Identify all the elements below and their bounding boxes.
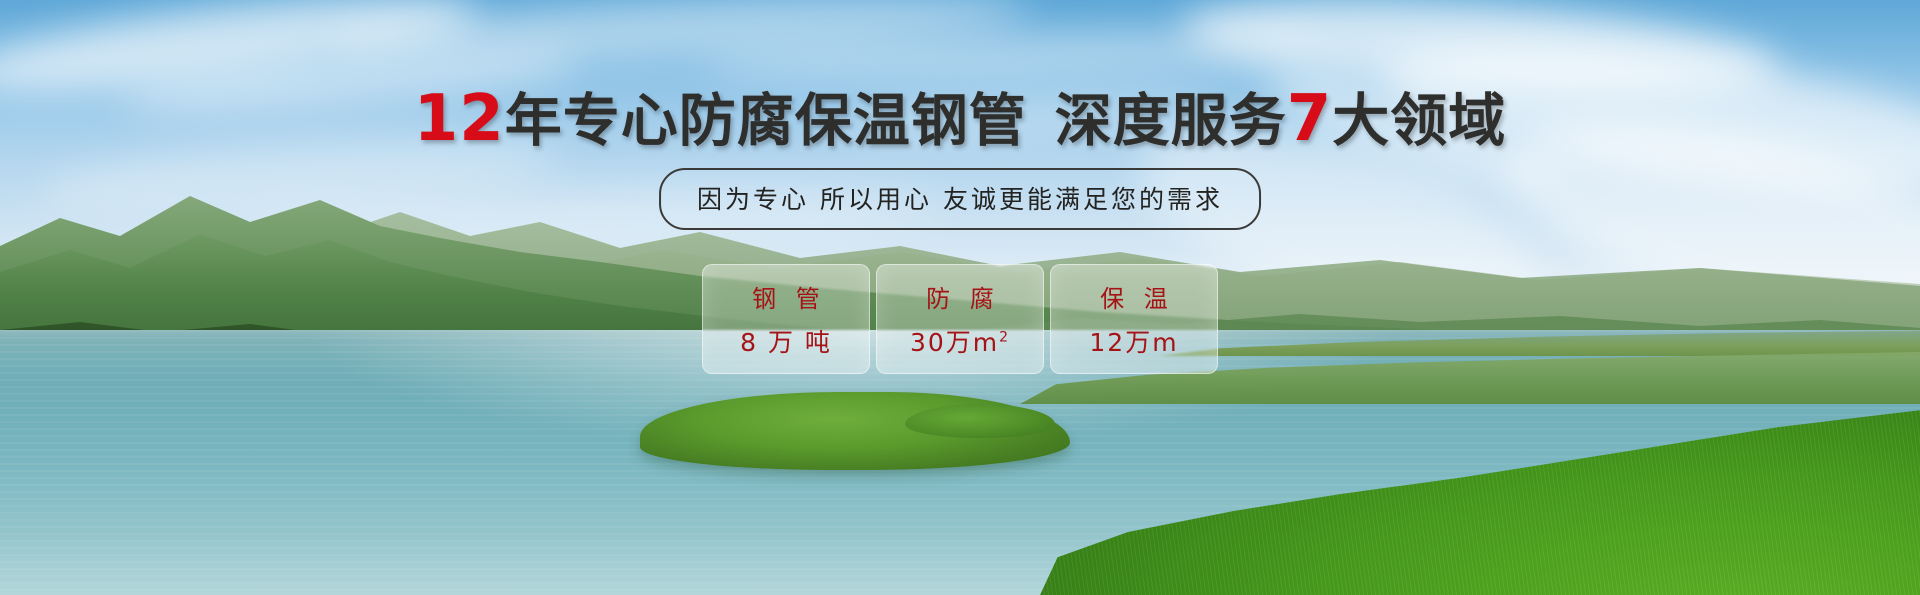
stat-card: 钢 管 8 万 吨 [702, 264, 870, 374]
stat-card-value: 30万m2 [910, 323, 1010, 359]
hero-banner: 12年专心防腐保温钢管深度服务7大领域 因为专心 所以用心 友诚更能满足您的需求… [0, 0, 1920, 595]
stat-card-value: 12万m [1089, 323, 1178, 359]
grassy-island-small [905, 404, 1055, 438]
stat-card-value-text: 12万m [1089, 328, 1178, 357]
headline-part-one: 年专心防腐保温钢管 [505, 88, 1027, 154]
stat-card: 保 温 12万m [1050, 264, 1218, 374]
headline-part-two: 深度服务 [1055, 88, 1287, 154]
headline-red-fields: 7 [1287, 82, 1333, 156]
stat-card-label: 保 温 [1094, 279, 1174, 314]
stat-card-group: 钢 管 8 万 吨 防 腐 30万m2 保 温 12万m [702, 264, 1218, 374]
stat-card-value: 8 万 吨 [740, 323, 832, 359]
stat-card-value-text: 8 万 吨 [740, 328, 832, 357]
banner-headline: 12年专心防腐保温钢管深度服务7大领域 [0, 86, 1920, 153]
stat-card-unit-sup: 2 [999, 330, 1010, 346]
stat-card-value-text: 30万m [910, 328, 999, 357]
stat-card-label: 钢 管 [746, 279, 826, 314]
subtitle-pill: 因为专心 所以用心 友诚更能满足您的需求 [659, 168, 1261, 230]
headline-part-three: 大领域 [1332, 88, 1506, 154]
stat-card: 防 腐 30万m2 [876, 264, 1044, 374]
headline-red-years: 12 [414, 82, 505, 156]
stat-card-label: 防 腐 [920, 279, 1000, 314]
